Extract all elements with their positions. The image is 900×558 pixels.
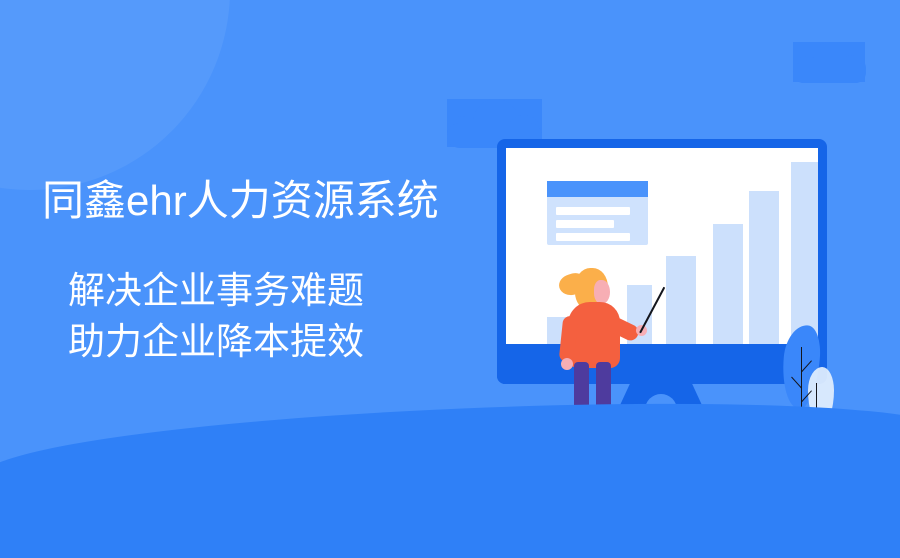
subtitle-line-1: 解决企业事务难题 bbox=[68, 265, 364, 316]
bar-chart-bar bbox=[749, 191, 779, 344]
bottom-wave bbox=[0, 395, 900, 558]
bar-chart-bar bbox=[666, 256, 696, 344]
cloud-body bbox=[793, 62, 866, 83]
promo-banner: 同鑫ehr人力资源系统 解决企业事务难题 助力企业降本提效 bbox=[0, 0, 900, 558]
left-hand bbox=[561, 358, 573, 370]
page-title: 同鑫ehr人力资源系统 bbox=[42, 178, 439, 224]
face bbox=[594, 280, 610, 304]
subtitle-line-2: 助力企业降本提效 bbox=[68, 316, 364, 367]
bar-chart-bar bbox=[791, 162, 818, 344]
cloud-icon-top-right bbox=[793, 42, 865, 82]
background-blob-top-left bbox=[0, 0, 230, 190]
subtitle-block: 解决企业事务难题 助力企业降本提效 bbox=[68, 265, 364, 367]
bar-chart-bar bbox=[713, 224, 743, 344]
